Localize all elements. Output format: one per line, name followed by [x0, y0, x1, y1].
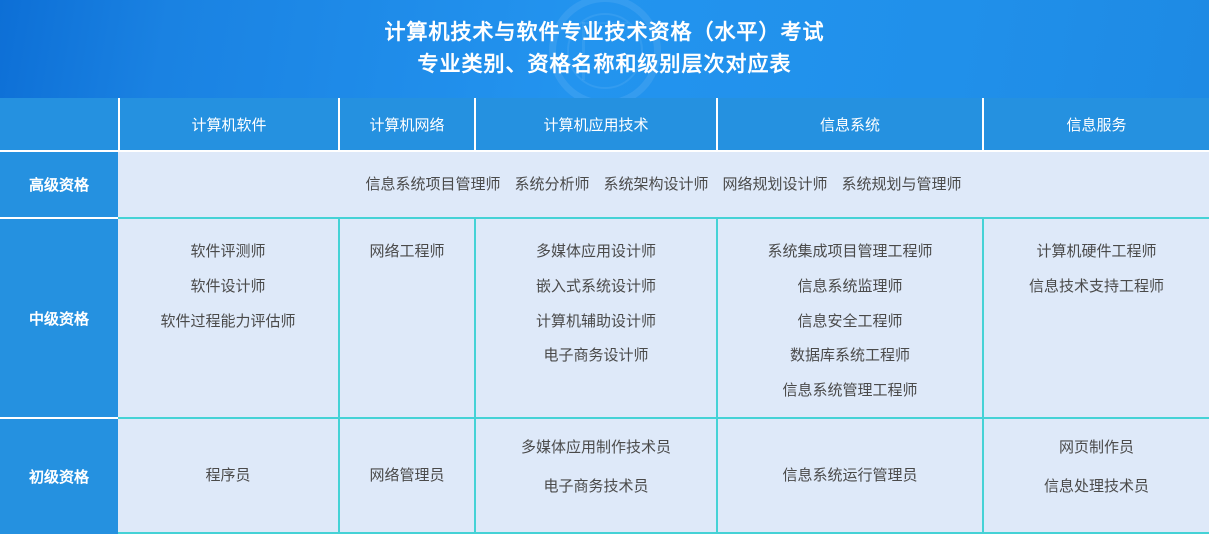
qualification-item: 网络管理员 [340, 465, 474, 487]
qualification-item: 计算机硬件工程师 [984, 241, 1209, 263]
qualification-item: 多媒体应用设计师 [476, 241, 716, 263]
cell-senior-all-categories: 信息系统项目管理师系统分析师系统架构设计师网络规划设计师系统规划与管理师 [118, 152, 1209, 219]
qualification-item: 信息系统监理师 [718, 276, 982, 298]
table-row: 中级资格 软件评测师 软件设计师 软件过程能力评估师 网络工程师 多媒体应用设计… [0, 219, 1209, 419]
cell-junior-computer-software: 程序员 [118, 419, 338, 534]
qualification-item: 计算机辅助设计师 [476, 311, 716, 333]
qualification-item: 电子商务设计师 [476, 345, 716, 367]
cell-intermediate-computer-applications: 多媒体应用设计师 嵌入式系统设计师 计算机辅助设计师 电子商务设计师 [474, 219, 716, 419]
table-row: 高级资格 信息系统项目管理师系统分析师系统架构设计师网络规划设计师系统规划与管理… [0, 152, 1209, 219]
qualification-item: 信息系统运行管理员 [718, 465, 982, 487]
page-subtitle: 专业类别、资格名称和级别层次对应表 [418, 52, 792, 78]
qualification-item: 系统分析师 [514, 176, 589, 193]
page-banner: 计算机技术与软件专业技术资格（水平）考试 专业类别、资格名称和级别层次对应表 [0, 0, 1209, 98]
cell-intermediate-computer-network: 网络工程师 [338, 219, 474, 419]
qualification-item: 系统架构设计师 [603, 176, 708, 193]
qualification-item: 信息处理技术员 [984, 476, 1209, 498]
qualification-item: 系统集成项目管理工程师 [718, 241, 982, 263]
column-header-information-services: 信息服务 [982, 98, 1209, 152]
banner-text-block: 计算机技术与软件专业技术资格（水平）考试 专业类别、资格名称和级别层次对应表 [0, 0, 1209, 98]
qualification-table-page: 计算机技术与软件专业技术资格（水平）考试 专业类别、资格名称和级别层次对应表 计… [0, 0, 1209, 535]
table-row: 初级资格 程序员 网络管理员 多媒体应用制作技术员 电子商务技术员 信息系统运行… [0, 419, 1209, 534]
senior-qualification-list: 信息系统项目管理师系统分析师系统架构设计师网络规划设计师系统规划与管理师 [118, 174, 1209, 196]
cell-intermediate-computer-software: 软件评测师 软件设计师 软件过程能力评估师 [118, 219, 338, 419]
qualification-item: 电子商务技术员 [476, 476, 716, 498]
qualification-item: 软件评测师 [118, 241, 338, 263]
qualification-item: 信息系统管理工程师 [718, 380, 982, 402]
qualification-item: 网页制作员 [984, 437, 1209, 459]
qualification-item: 信息技术支持工程师 [984, 276, 1209, 298]
table-column-header-row: 计算机软件 计算机网络 计算机应用技术 信息系统 信息服务 [0, 98, 1209, 152]
qualification-item: 嵌入式系统设计师 [476, 276, 716, 298]
column-header-computer-software: 计算机软件 [118, 98, 338, 152]
cell-intermediate-information-services: 计算机硬件工程师 信息技术支持工程师 [982, 219, 1209, 419]
row-header-intermediate-level: 中级资格 [0, 219, 118, 419]
cell-junior-information-services: 网页制作员 信息处理技术员 [982, 419, 1209, 534]
column-header-information-systems: 信息系统 [716, 98, 982, 152]
qualification-item: 数据库系统工程师 [718, 345, 982, 367]
qualification-item: 软件过程能力评估师 [118, 311, 338, 333]
qualification-table: 计算机软件 计算机网络 计算机应用技术 信息系统 信息服务 高级资格 信息系统项… [0, 98, 1209, 534]
cell-junior-computer-applications: 多媒体应用制作技术员 电子商务技术员 [474, 419, 716, 534]
page-title: 计算机技术与软件专业技术资格（水平）考试 [385, 20, 825, 46]
qualification-item: 网络工程师 [340, 241, 474, 263]
qualification-item: 信息系统项目管理师 [365, 176, 500, 193]
row-header-junior-level: 初级资格 [0, 419, 118, 534]
qualification-item: 网络规划设计师 [723, 176, 828, 193]
column-header-computer-network: 计算机网络 [338, 98, 474, 152]
qualification-item: 程序员 [118, 465, 338, 487]
qualification-item: 多媒体应用制作技术员 [476, 437, 716, 459]
qualification-item: 信息安全工程师 [718, 311, 982, 333]
cell-intermediate-information-systems: 系统集成项目管理工程师 信息系统监理师 信息安全工程师 数据库系统工程师 信息系… [716, 219, 982, 419]
qualification-item: 软件设计师 [118, 276, 338, 298]
row-header-senior-level: 高级资格 [0, 152, 118, 219]
table-corner-cell [0, 98, 118, 152]
cell-junior-information-systems: 信息系统运行管理员 [716, 419, 982, 534]
column-header-computer-applications: 计算机应用技术 [474, 98, 716, 152]
qualification-item: 系统规划与管理师 [842, 176, 962, 193]
cell-junior-computer-network: 网络管理员 [338, 419, 474, 534]
